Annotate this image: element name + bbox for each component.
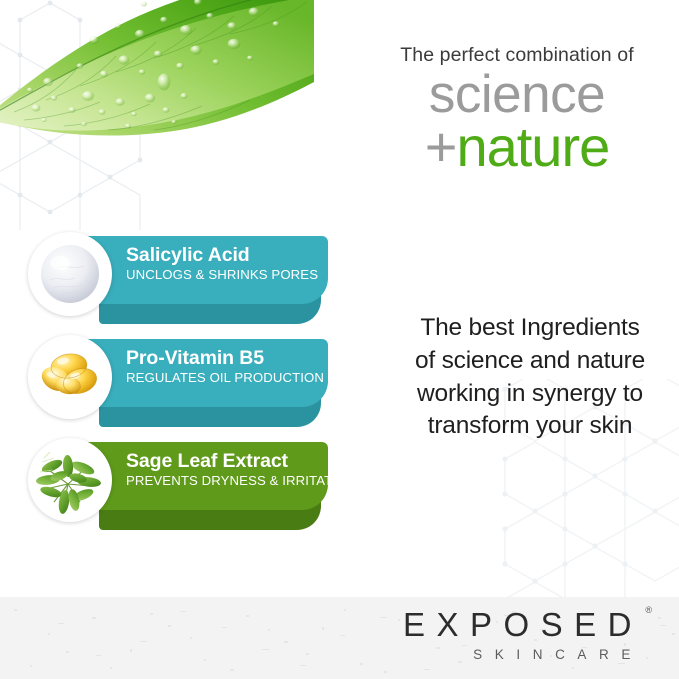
registered-trademark-icon: ®	[645, 606, 652, 615]
headline-word-science: science	[372, 68, 662, 122]
ingredient-card-list: Salicylic Acid UNCLOGS & SHRINKS PORES	[0, 232, 360, 542]
card-title: Sage Leaf Extract	[126, 450, 318, 472]
card-title: Pro-Vitamin B5	[126, 347, 318, 369]
ingredient-card-salicylic-acid[interactable]: Salicylic Acid UNCLOGS & SHRINKS PORES	[0, 232, 345, 318]
ingredient-card-pro-vitamin-b5[interactable]: Pro-Vitamin B5 REGULATES OIL PRODUCTION	[0, 335, 345, 421]
blurb-line-4: transform your skin	[394, 410, 666, 443]
green-leaf-with-water-droplets	[0, 0, 314, 206]
card-subtitle: UNCLOGS & SHRINKS PORES	[126, 267, 318, 282]
card-subtitle: REGULATES OIL PRODUCTION	[126, 370, 318, 385]
card-subtitle: PREVENTS DRYNESS & IRRITATION	[126, 473, 318, 488]
ingredient-card-sage-leaf-extract[interactable]: Sage Leaf Extract PREVENTS DRYNESS & IRR…	[0, 438, 345, 524]
blurb-line-2: of science and nature	[394, 345, 666, 378]
headline-block: The perfect combination of science +natu…	[372, 44, 662, 176]
brand-name-text: EXPOSED	[403, 606, 643, 643]
sage-leaf-sprig-icon	[28, 438, 112, 522]
gold-softgel-capsules-icon	[28, 335, 112, 419]
hexagon-molecule-pattern-top-left	[0, 0, 210, 230]
marketing-blurb: The best Ingredients of science and natu…	[394, 312, 666, 443]
brand-name: EXPOSED®	[403, 608, 645, 641]
headline-word-nature: +nature	[372, 118, 662, 175]
headline-kicker: The perfect combination of	[372, 44, 662, 66]
card-title: Salicylic Acid	[126, 244, 318, 266]
promo-image-root: The perfect combination of science +natu…	[0, 0, 679, 679]
blurb-line-1: The best Ingredients	[394, 312, 666, 345]
brand-logo: EXPOSED® SKINCARE	[403, 608, 645, 662]
plus-symbol: +	[425, 115, 457, 178]
blurb-line-3: working in synergy to	[394, 378, 666, 411]
headline-nature-text: nature	[456, 115, 609, 178]
brand-tagline: SKINCARE	[403, 648, 645, 662]
white-powder-disc-icon	[28, 232, 112, 316]
